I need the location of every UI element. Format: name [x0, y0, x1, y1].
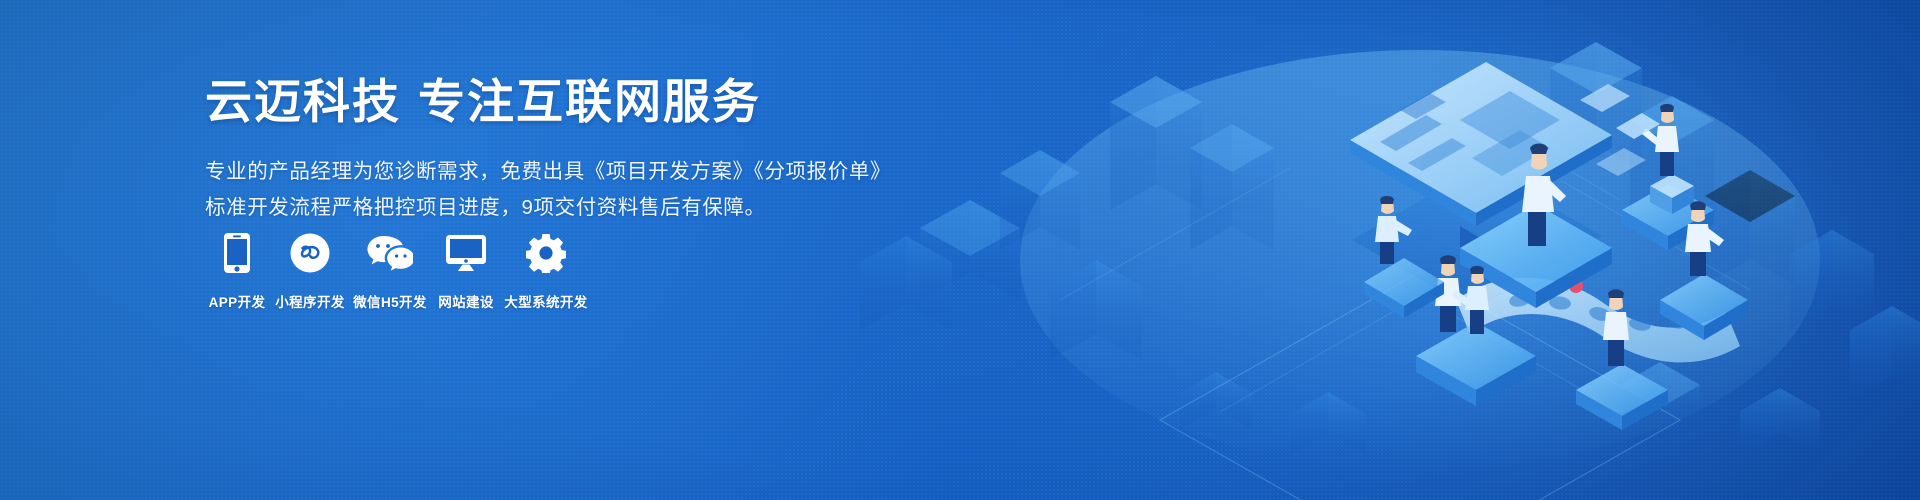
service-item-mini-program[interactable]: 小程序开发 [272, 232, 348, 311]
hero-copy: 云迈科技专注互联网服务 专业的产品经理为您诊断需求，免费出具《项目开发方案》《分… [205, 74, 905, 226]
service-list: APP开发 小程序开发 [205, 232, 592, 311]
subtitle-line-1: 专业的产品经理为您诊断需求，免费出具《项目开发方案》《分项报价单》 [205, 154, 905, 190]
service-item-wechat-h5[interactable]: 微信H5开发 [351, 232, 429, 311]
page-title: 云迈科技专注互联网服务 [205, 74, 905, 129]
service-label-mini-program: 小程序开发 [275, 291, 345, 311]
headline-brand: 云迈科技 [205, 75, 401, 128]
hero-banner: 云迈科技专注互联网服务 专业的产品经理为您诊断需求，免费出具《项目开发方案》《分… [0, 0, 1920, 500]
mobile-phone-icon [205, 232, 269, 274]
subtitle-line-2: 标准开发流程严格把控项目进度，9项交付资料售后有保障。 [205, 190, 905, 226]
wechat-icon [351, 232, 429, 274]
service-label-wechat-h5: 微信H5开发 [353, 291, 427, 311]
gear-icon [503, 232, 589, 274]
monitor-icon [432, 232, 500, 274]
service-label-app: APP开发 [209, 291, 266, 311]
service-label-website: 网站建设 [438, 291, 494, 311]
headline-tagline: 专注互联网服务 [418, 75, 761, 128]
service-item-website[interactable]: 网站建设 [432, 232, 500, 311]
hero-subtitle: 专业的产品经理为您诊断需求，免费出具《项目开发方案》《分项报价单》 标准开发流程… [205, 154, 905, 226]
service-item-large-system[interactable]: 大型系统开发 [503, 232, 589, 311]
service-label-large-system: 大型系统开发 [504, 291, 587, 311]
isometric-tech-illustration [860, 0, 1920, 500]
service-item-app[interactable]: APP开发 [205, 232, 269, 311]
mini-program-icon [272, 232, 348, 274]
